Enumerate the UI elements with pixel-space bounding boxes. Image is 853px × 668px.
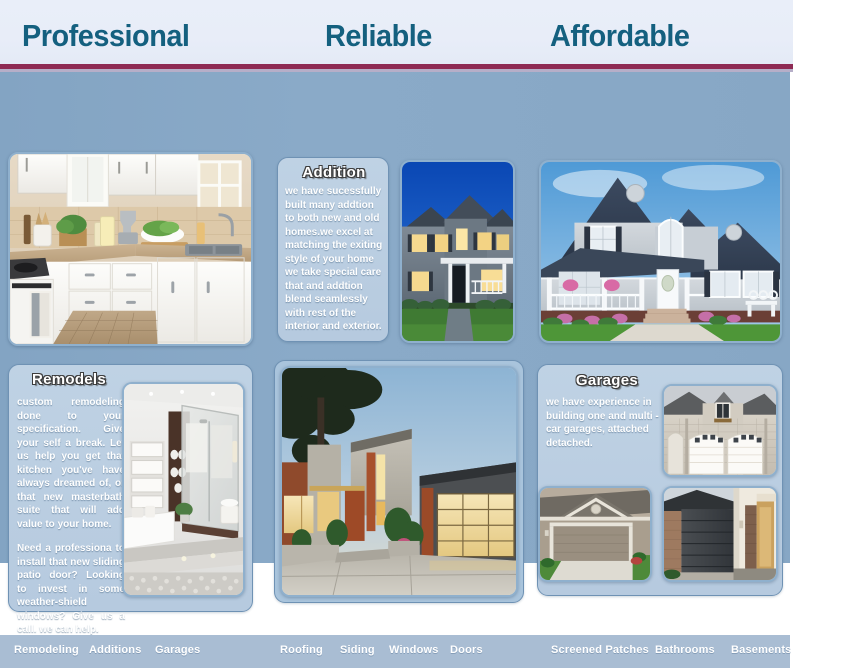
suburban-house-photo [539, 160, 782, 343]
nav-link-screened-patches[interactable]: Screened Patches [551, 644, 649, 656]
page-header: Professional Reliable Affordable [0, 0, 793, 64]
nav-link-remodeling[interactable]: Remodeling [14, 644, 79, 656]
header-taglines: Professional Reliable Affordable [0, 0, 793, 64]
addition-panel-text: we have sucessfully built many addtion t… [285, 185, 384, 334]
remodels-paragraph-2: Need a professiona to install that new s… [17, 542, 125, 637]
stone-garage-photo [662, 384, 778, 477]
nav-link-additions[interactable]: Additions [89, 644, 142, 656]
addition-panel-title: Addition [278, 164, 390, 181]
dark-garage-photo [662, 486, 778, 582]
nav-link-windows[interactable]: Windows [389, 644, 439, 656]
footer-navigation: Remodeling Additions Garages Roofing Sid… [0, 635, 790, 668]
tagline-affordable: Affordable [550, 20, 690, 52]
kitchen-remodel-photo [8, 152, 253, 346]
nav-link-garages[interactable]: Garages [155, 644, 200, 656]
nav-link-siding[interactable]: Siding [340, 644, 375, 656]
webpage-root: Professional Reliable Affordable [0, 0, 853, 596]
garages-panel-title: Garages [552, 372, 662, 389]
tagline-professional: Professional [22, 20, 189, 52]
garages-panel-text: we have experience in building one and m… [546, 396, 662, 450]
main-content-area: Addition we have sucessfully built many … [0, 72, 790, 563]
remodels-paragraph-1: custom remodeling done to your specifica… [17, 396, 125, 531]
nav-link-doors[interactable]: Doors [450, 644, 483, 656]
modern-house-photo [280, 366, 518, 597]
remodels-panel-text: custom remodeling done to your specifica… [17, 396, 125, 637]
bathroom-remodel-photo [122, 382, 245, 597]
dusk-house-photo [400, 160, 515, 343]
nav-link-bathrooms[interactable]: Bathrooms [655, 644, 715, 656]
beige-garage-photo [538, 486, 652, 582]
nav-link-basements[interactable]: Basements [731, 644, 792, 656]
addition-service-panel: Addition we have sucessfully built many … [277, 157, 389, 342]
tagline-reliable: Reliable [325, 20, 432, 52]
remodels-panel-title: Remodels [13, 371, 125, 388]
nav-link-roofing[interactable]: Roofing [280, 644, 323, 656]
